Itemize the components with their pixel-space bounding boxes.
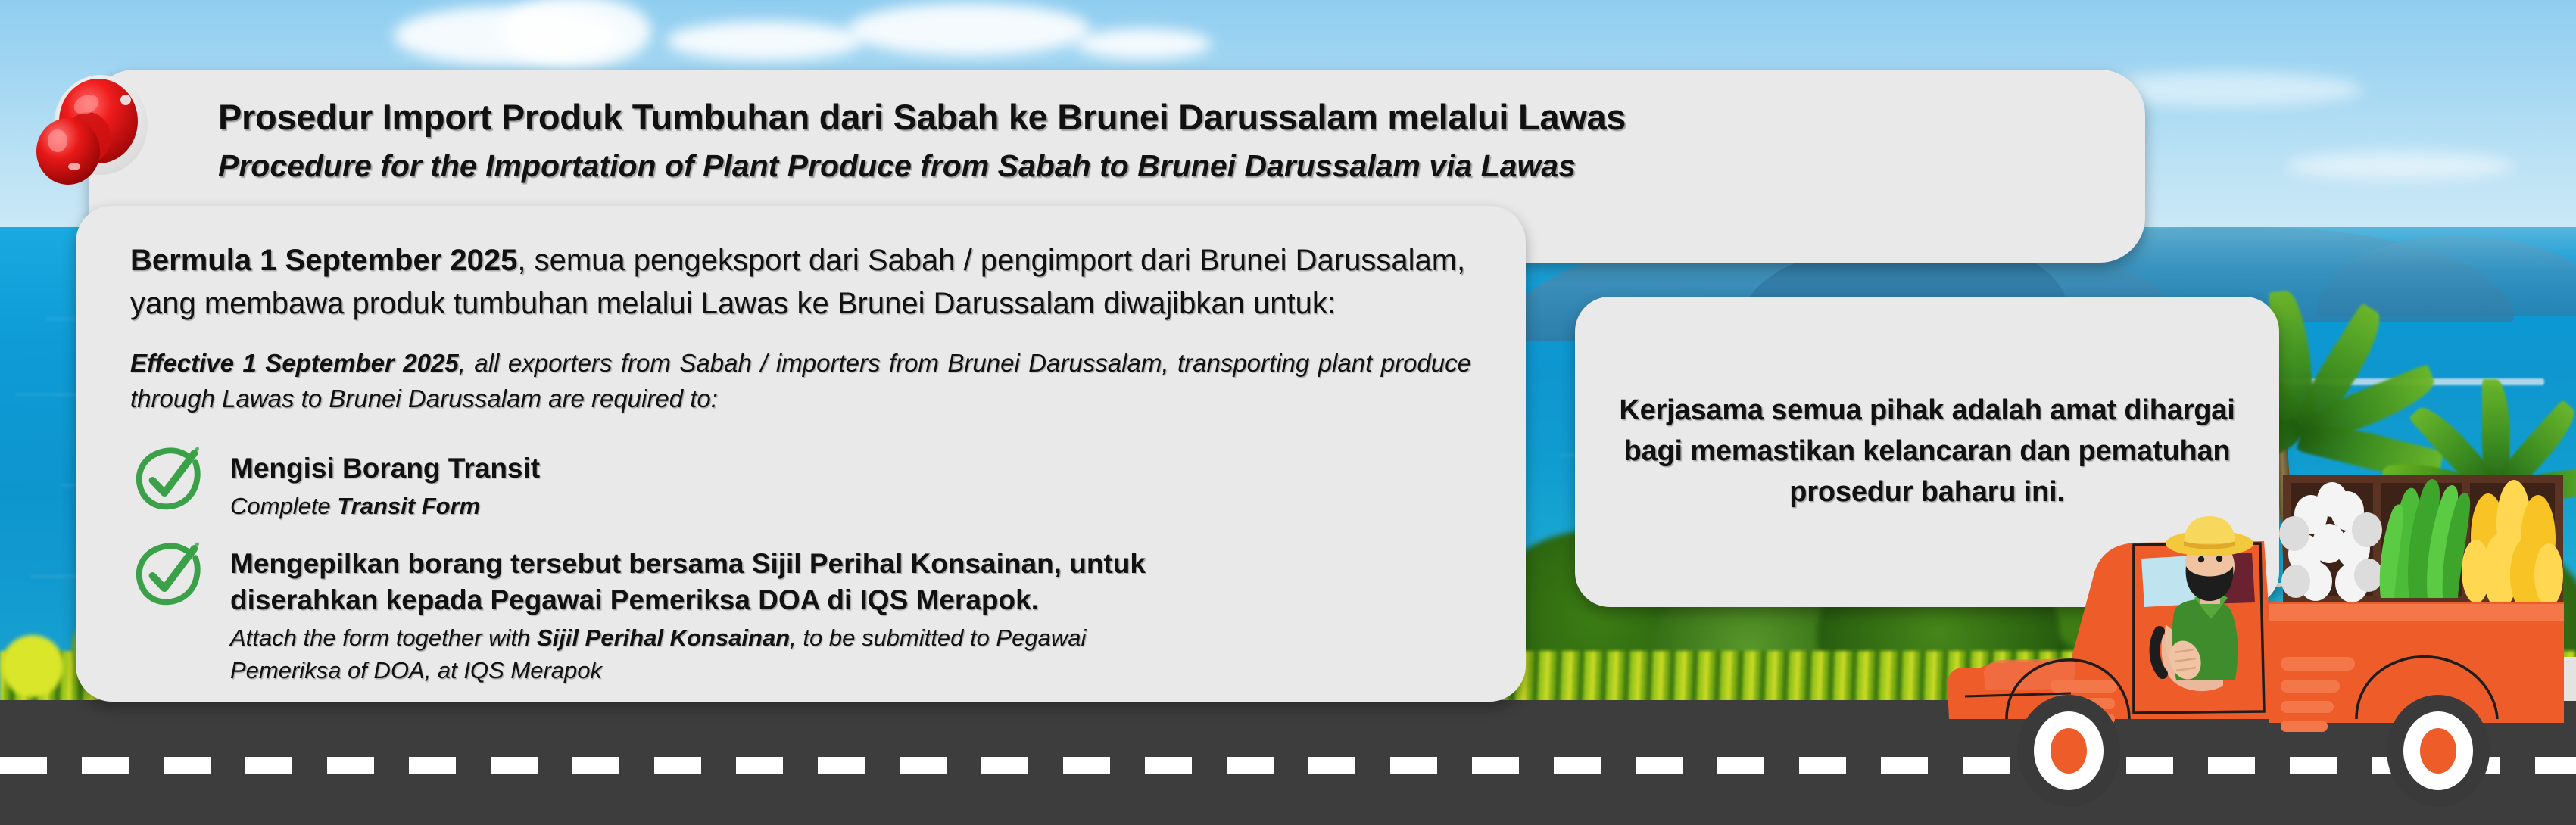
list-item-label-ms: Mengisi Borang Transit	[230, 450, 540, 487]
cloud	[848, 3, 1090, 56]
en-pre: Complete	[230, 493, 337, 519]
en-pre: Attach the form together with	[230, 624, 537, 651]
cargo-crate	[2279, 475, 2563, 613]
intro-paragraph-ms: Bermula 1 September 2025, semua pengeksp…	[130, 239, 1471, 325]
main-content-panel: Bermula 1 September 2025, semua pengeksp…	[76, 206, 1526, 702]
list-item-label-en: Complete Transit Form	[230, 490, 540, 523]
intro-lead-ms: Bermula 1 September 2025	[130, 244, 517, 277]
list-item-text: Mengepilkan borang tersebut bersama Siji…	[230, 543, 1177, 687]
cloud	[666, 21, 863, 61]
orange-pickup-truck-icon	[1938, 469, 2576, 825]
page-subtitle: Procedure for the Importation of Plant P…	[218, 146, 2103, 186]
cloud	[2287, 151, 2514, 180]
red-pushpin-icon	[21, 45, 180, 204]
list-item: Mengisi Borang Transit Complete Transit …	[130, 447, 1471, 523]
en-bold: Sijil Perihal Konsainan	[537, 624, 790, 651]
en-bold: Transit Form	[337, 493, 480, 519]
list-item: Mengepilkan borang tersebut bersama Siji…	[130, 543, 1471, 687]
list-item-label-ms: Mengepilkan borang tersebut bersama Siji…	[230, 546, 1177, 618]
list-item-text: Mengisi Borang Transit Complete Transit …	[230, 447, 540, 523]
truck-wheel	[2387, 695, 2490, 807]
green-check-circle-icon	[130, 443, 211, 515]
requirements-list: Mengisi Borang Transit Complete Transit …	[130, 447, 1471, 687]
green-check-circle-icon	[130, 538, 211, 611]
list-item-label-en: Attach the form together with Sijil Peri…	[230, 622, 1177, 687]
page-title: Prosedur Import Produk Tumbuhan dari Sab…	[218, 95, 2103, 139]
cloud	[1075, 29, 1212, 59]
intro-paragraph-en: Effective 1 September 2025, all exporter…	[130, 345, 1471, 418]
truck-wheel	[2017, 695, 2120, 807]
intro-lead-en: Effective 1 September 2025	[130, 349, 459, 377]
